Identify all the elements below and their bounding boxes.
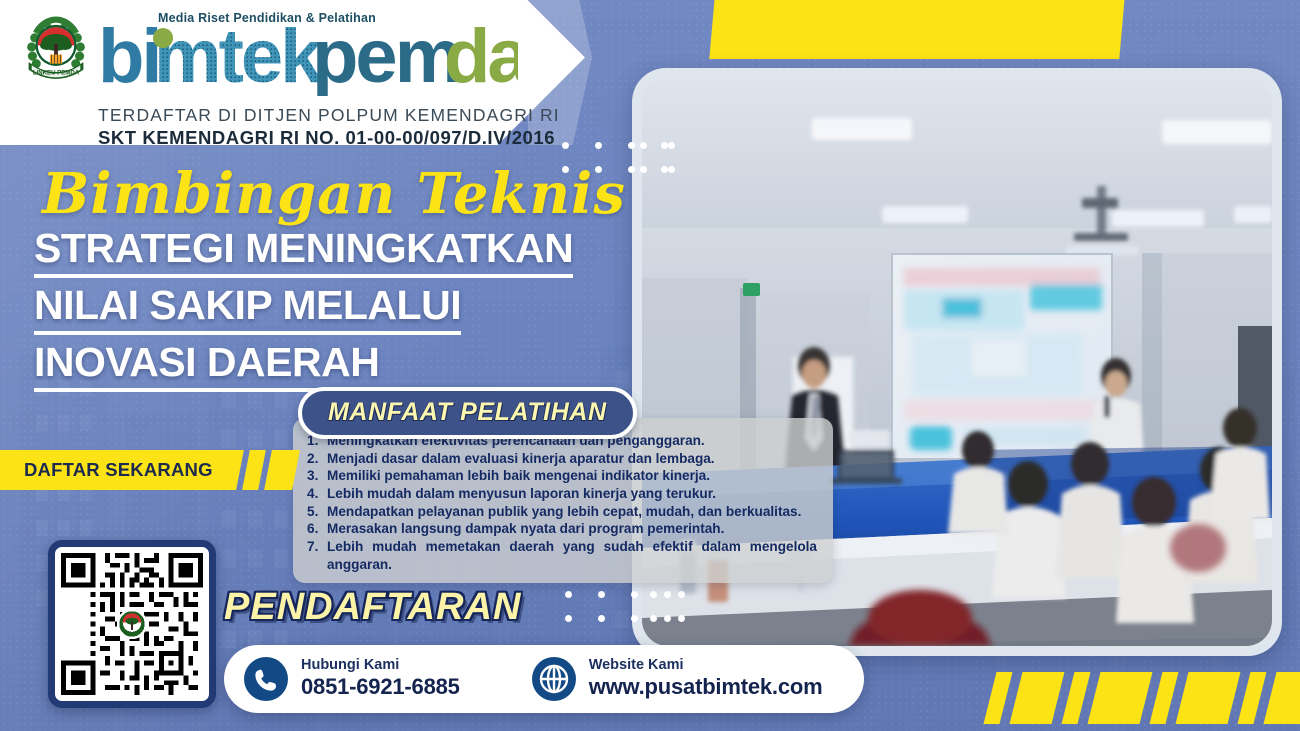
list-item: Mendapatkan pelayanan publik yang lebih … (305, 503, 817, 521)
top-yellow-accent-bar (709, 0, 1124, 59)
contact-website[interactable]: Website Kami www.pusatbimtek.com (532, 657, 823, 701)
contact-bar: Hubungi Kami 0851-6921-6885 Website Kami (224, 645, 864, 713)
benefits-panel: Meningkatkan efektivitas perencanaan dan… (293, 418, 833, 583)
brand-header: LINKEU PEMDA Media Riset Pendidikan & Pe… (18, 8, 538, 138)
list-item: Lebih mudah memetakan daerah yang sudah … (305, 538, 817, 573)
promotional-poster: LINKEU PEMDA Media Riset Pendidikan & Pe… (0, 0, 1300, 731)
title-line-2: NILAI SAKIP MELALUI (34, 285, 461, 335)
contact-phone[interactable]: Hubungi Kami 0851-6921-6885 (244, 657, 460, 701)
svg-text:bi: bi (98, 20, 160, 96)
list-item: Merasakan langsung dampak nyata dari pro… (305, 520, 817, 538)
headline-block: Bimbingan Teknis STRATEGI MENINGKATKAN N… (34, 166, 634, 399)
government-crest-icon: LINKEU PEMDA (18, 12, 94, 88)
svg-text:LINKEU PEMDA: LINKEU PEMDA (33, 69, 80, 76)
main-title: STRATEGI MENINGKATKAN NILAI SAKIP MELALU… (34, 228, 634, 399)
title-line-1: STRATEGI MENINGKATKAN (34, 228, 573, 278)
list-item: Lebih mudah dalam menyusun laporan kiner… (305, 485, 817, 503)
contact-website-label: Website Kami (589, 658, 823, 674)
benefits-badge: MANFAAT PELATIHAN (298, 387, 637, 439)
phone-icon (244, 657, 288, 701)
contact-phone-number[interactable]: 0851-6921-6885 (301, 674, 460, 699)
list-item: Menjadi dasar dalam evaluasi kinerja apa… (305, 450, 817, 468)
dot-grid-upper-right (640, 142, 700, 176)
svg-text:pem: pem (312, 20, 459, 96)
register-cta-label[interactable]: DAFTAR SEKARANG (24, 450, 213, 490)
registration-heading: PENDAFTARAN (224, 586, 521, 629)
contact-phone-label: Hubungi Kami (301, 658, 460, 674)
title-line-3: INOVASI DAERAH (34, 342, 379, 392)
registration-line-2: SKT KEMENDAGRI RI NO. 01-00-00/097/D.IV/… (98, 127, 560, 149)
svg-text:mtek: mtek (154, 20, 323, 96)
bimtek-pemda-wordmark: bi mtek pem da (98, 20, 560, 101)
script-subtitle: Bimbingan Teknis (42, 166, 634, 222)
registration-line-1: TERDAFTAR DI DITJEN POLPUM KEMENDAGRI RI (98, 105, 560, 126)
qr-code-icon[interactable] (48, 540, 216, 708)
globe-icon (532, 657, 576, 701)
benefits-list: Meningkatkan efektivitas perencanaan dan… (305, 432, 817, 573)
dot-grid-lower-right (650, 591, 710, 625)
contact-website-url[interactable]: www.pusatbimtek.com (589, 674, 823, 699)
list-item: Memiliki pemahaman lebih baik mengenai i… (305, 467, 817, 485)
benefits-badge-label: MANFAAT PELATIHAN (328, 398, 607, 426)
svg-text:da: da (444, 20, 518, 96)
